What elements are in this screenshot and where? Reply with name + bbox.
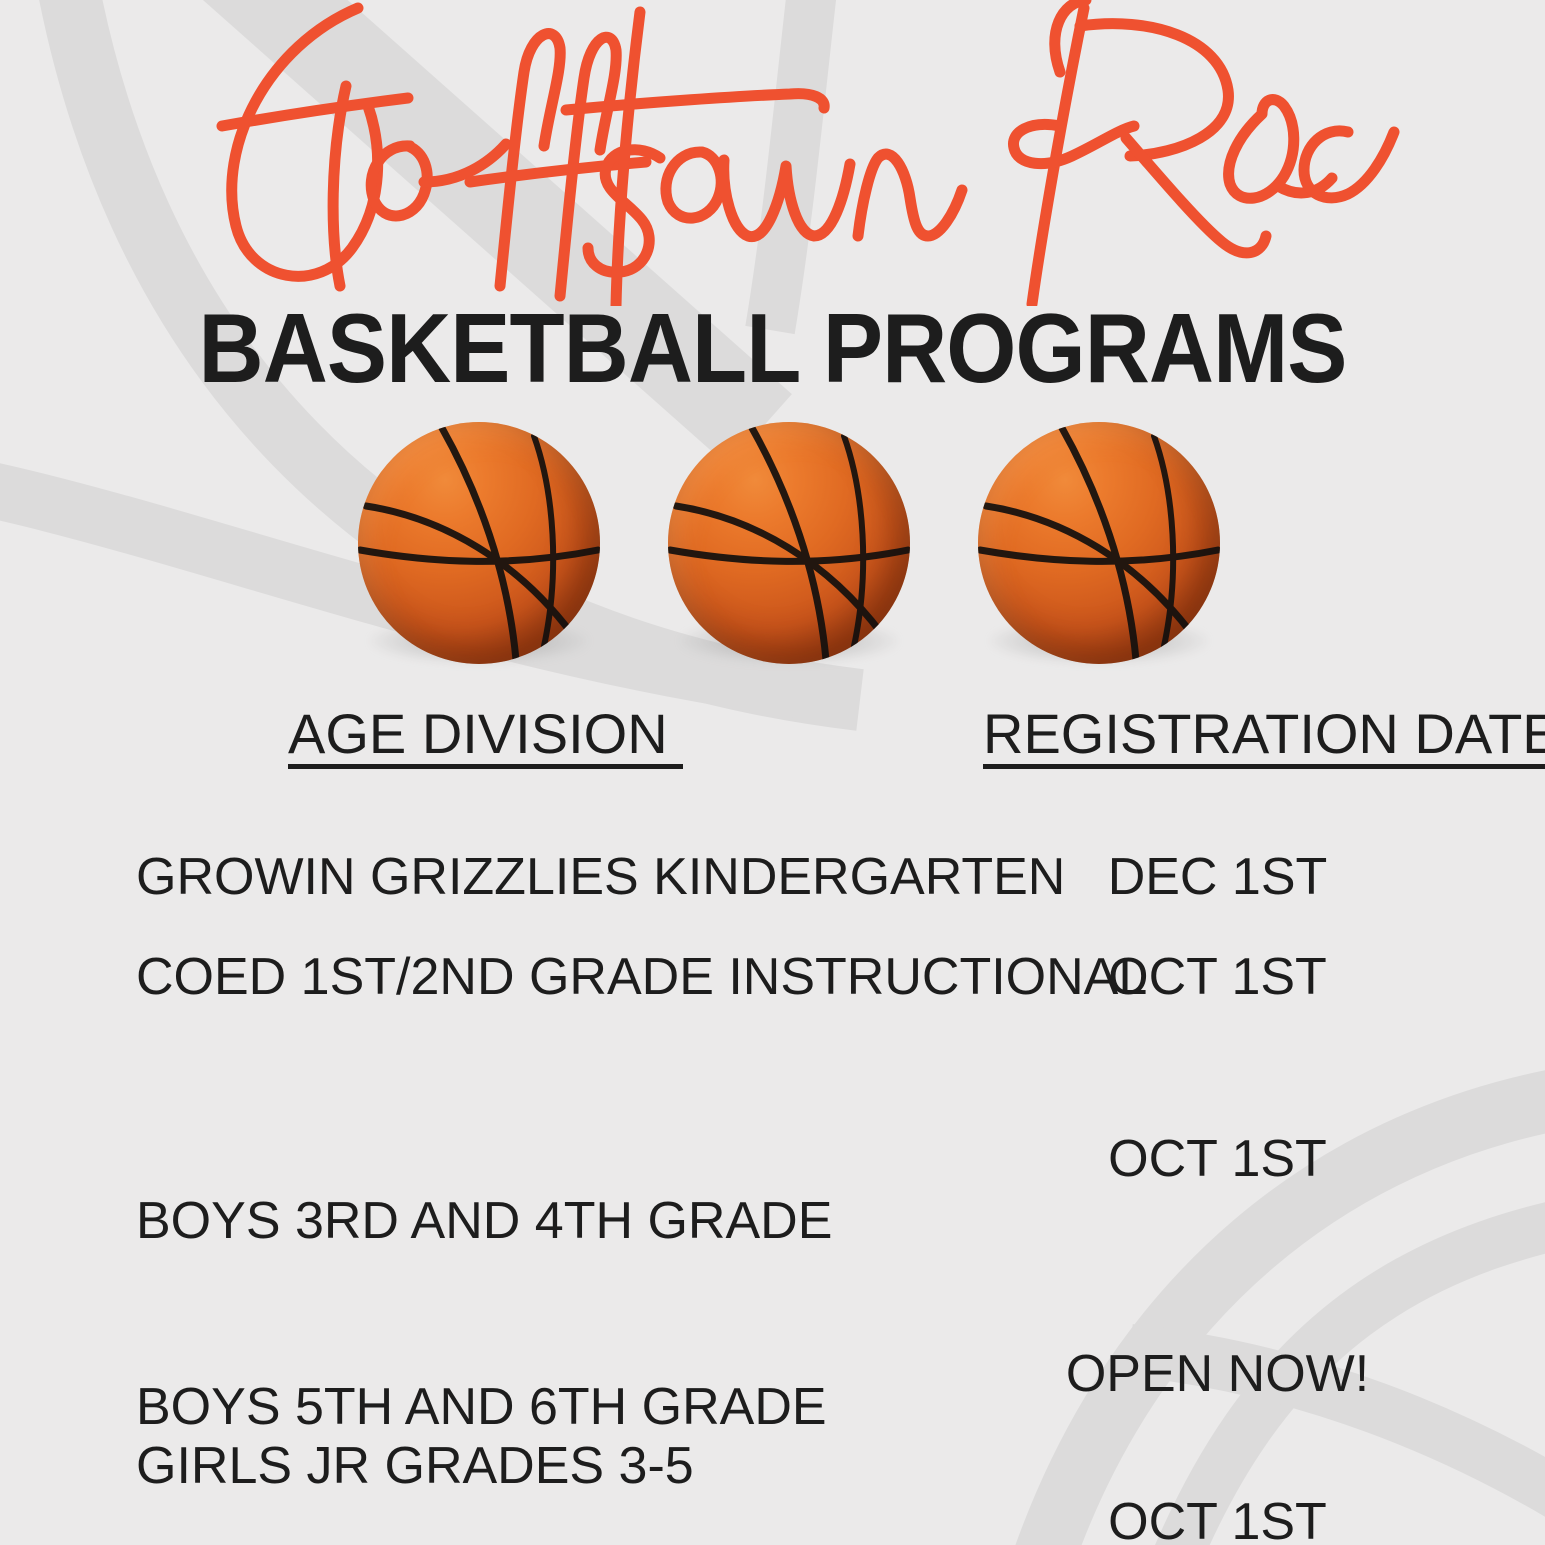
basketball-programs-poster: BASKETBALL PROGRAMS	[0, 0, 1545, 1545]
row-registration-date: OCT 1ST	[985, 1128, 1450, 1190]
basketball-icon	[358, 422, 600, 664]
division-line: BOYS 3RD AND 4TH GRADE	[136, 1190, 832, 1252]
row-registration-date: OPEN NOW!	[985, 1343, 1450, 1405]
basketball-body	[978, 422, 1220, 664]
column-header-age-division: AGE DIVISION	[288, 706, 683, 769]
row-registration-date: DEC 1ST	[985, 846, 1450, 908]
table-row: GROWIN GRIZZLIES KINDERGARTEN DEC 1ST	[0, 846, 1545, 946]
basketball-icon	[668, 422, 910, 664]
table-header-row: AGE DIVISION REGISTRATION DATE	[0, 706, 1545, 776]
table-row: BOYS 3RD AND 4TH GRADE BOYS 5TH AND 6TH …	[0, 1066, 1545, 1311]
column-header-registration-date: REGISTRATION DATE	[983, 706, 1545, 769]
program-table: GROWIN GRIZZLIES KINDERGARTEN DEC 1ST CO…	[0, 846, 1545, 1545]
row-division-lines: GROWIN GRIZZLIES KINDERGARTEN	[136, 846, 1065, 908]
basketball-icon	[978, 422, 1220, 664]
basketball-body	[668, 422, 910, 664]
table-row: GIRLS JR GRADES 3-5 GIRLS SR GRADES 6-8 …	[0, 1311, 1545, 1491]
row-registration-date: OCT 1ST	[985, 946, 1450, 1008]
row-registration-date: OCT 1ST	[985, 1491, 1450, 1545]
row-division-lines: BOYS HS GRADES 9-12 GIRLS HS GRADES 9-12	[136, 1491, 731, 1545]
page-title: BASKETBALL PROGRAMS	[62, 292, 1483, 405]
table-row: COED 1ST/2ND GRADE INSTRUCTIONAL OCT 1ST	[0, 946, 1545, 1066]
basketball-body	[358, 422, 600, 664]
basketball-row	[0, 410, 1545, 690]
script-headline-strokes	[0, 0, 1545, 306]
script-headline	[0, 0, 1545, 306]
table-row: BOYS HS GRADES 9-12 GIRLS HS GRADES 9-12…	[0, 1491, 1545, 1545]
division-line: GIRLS JR GRADES 3-5	[136, 1435, 702, 1497]
